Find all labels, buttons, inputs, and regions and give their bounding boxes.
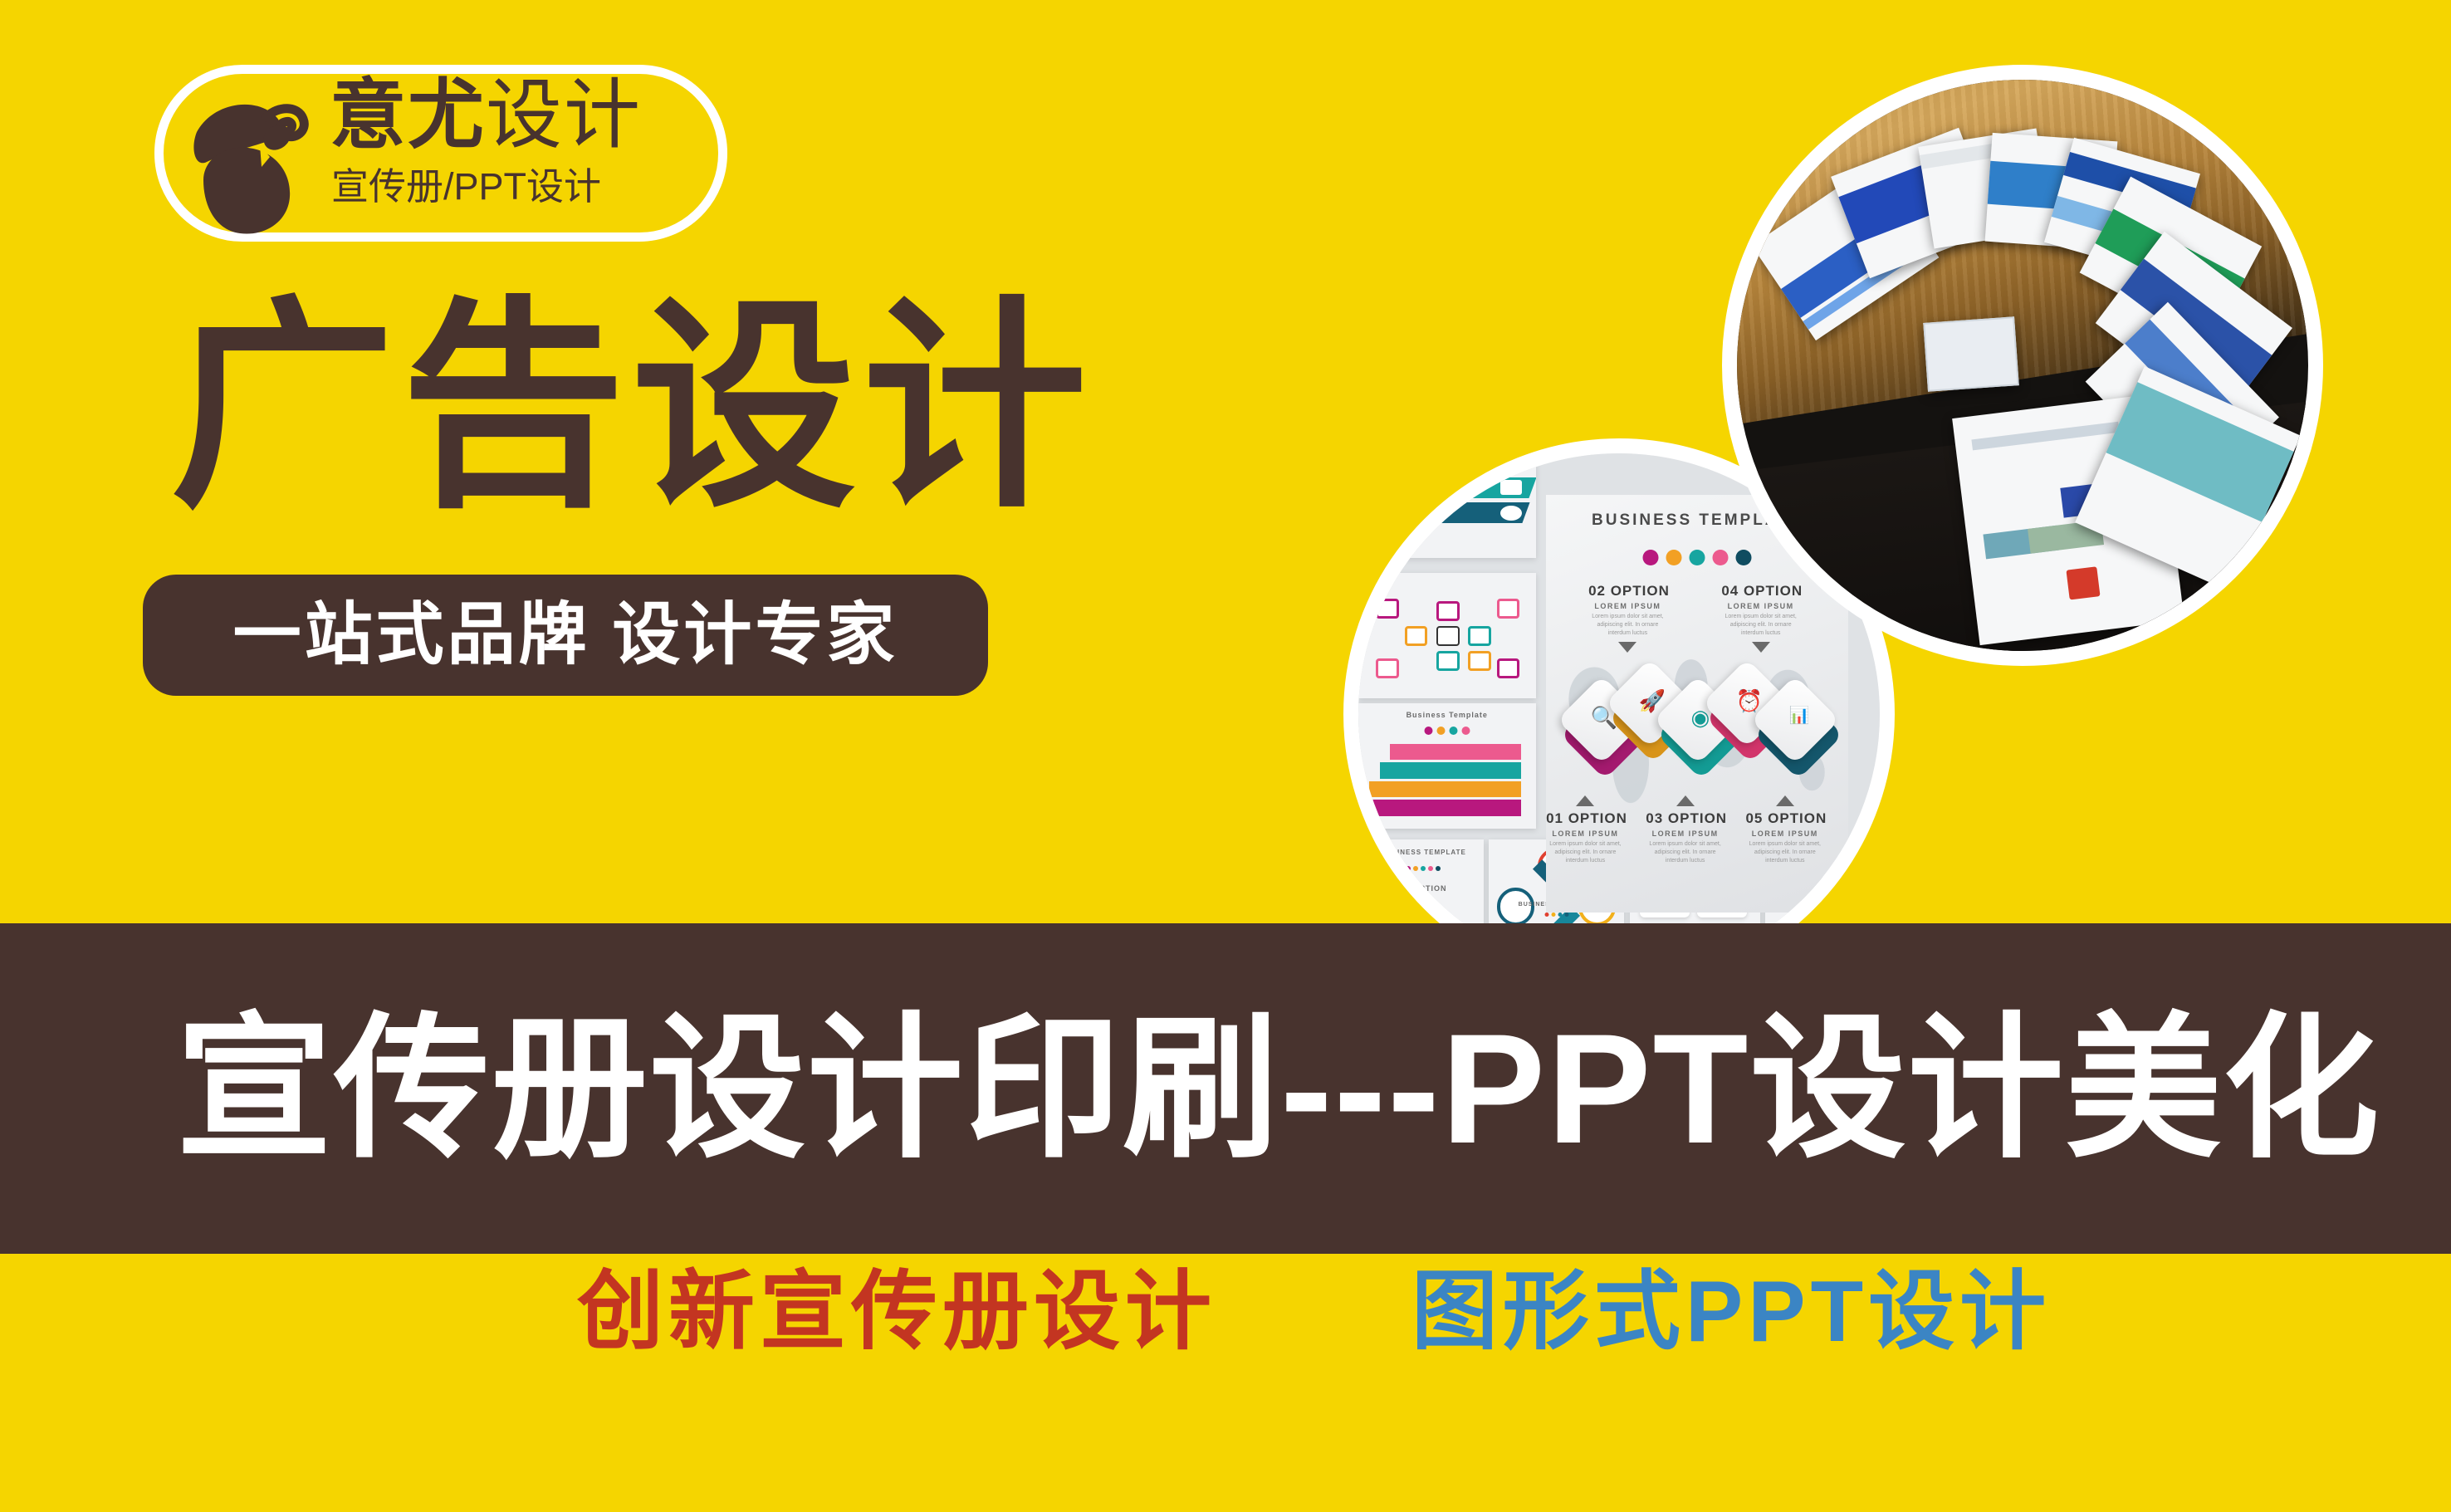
option-03: 03 OPTION LOREM IPSUM Lorem ipsum dolor … — [1646, 791, 1725, 865]
brand-logo-text: 意尤设计 宣传册/PPT设计 — [330, 69, 720, 256]
service-banner-text: 宣传册设计印刷---PPT设计美化 — [176, 1006, 2380, 1172]
thumb-pyramid: Business Template — [1358, 703, 1536, 829]
pointer-down-icon — [1618, 642, 1636, 653]
printed-brochures-photo — [1722, 65, 2323, 666]
pointer-up-icon — [1676, 795, 1695, 806]
poster-canvas: 意尤设计 宣传册/PPT设计 广告设计 一站式品牌 设计专家 — [0, 0, 2451, 1512]
thumb-cross-icons — [1358, 573, 1536, 698]
footer-label-brochure: 创新宣传册设计 — [577, 1266, 1216, 1358]
footer-label-ppt: 图形式PPT设计 — [1411, 1266, 2051, 1358]
rocket-icon: 🚀 — [1639, 691, 1666, 712]
tagline-text: 一站式品牌 设计专家 — [233, 598, 898, 673]
option-01: 01 OPTION LOREM IPSUM Lorem ipsum dolor … — [1546, 791, 1625, 865]
thumb-option-card-title: BUSINESS TEMPLATE — [1381, 849, 1466, 856]
option-02: 02 OPTION LOREM IPSUM Lorem ipsum dolor … — [1588, 583, 1667, 657]
pointer-up-icon — [1576, 795, 1594, 806]
thumb-banner-steps — [1369, 453, 1536, 558]
option-05: 05 OPTION LOREM IPSUM Lorem ipsum dolor … — [1745, 791, 1824, 865]
brand-logo: 意尤设计 宣传册/PPT设计 — [154, 65, 727, 242]
thumb-pyramid-title: Business Template — [1407, 711, 1488, 719]
leaf-droplet-mark-icon — [174, 81, 323, 238]
target-icon: ◉ — [1691, 707, 1710, 729]
thumb-option-card-label: 04 OPTION — [1400, 884, 1446, 893]
page-title: 广告设计 — [170, 292, 1093, 525]
brand-name: 意尤设计 — [330, 76, 642, 155]
clock-icon: ⏰ — [1735, 691, 1762, 712]
template-header-dots — [1643, 550, 1752, 565]
tagline-pill: 一站式品牌 设计专家 — [143, 575, 988, 696]
pointer-up-icon — [1776, 795, 1794, 806]
presentation-icon: 📊 — [1788, 708, 1809, 725]
brand-subtitle: 宣传册/PPT设计 — [331, 165, 601, 208]
diamond-05: 📊 — [1767, 703, 1830, 766]
service-banner: 宣传册设计印刷---PPT设计美化 — [0, 923, 2451, 1254]
